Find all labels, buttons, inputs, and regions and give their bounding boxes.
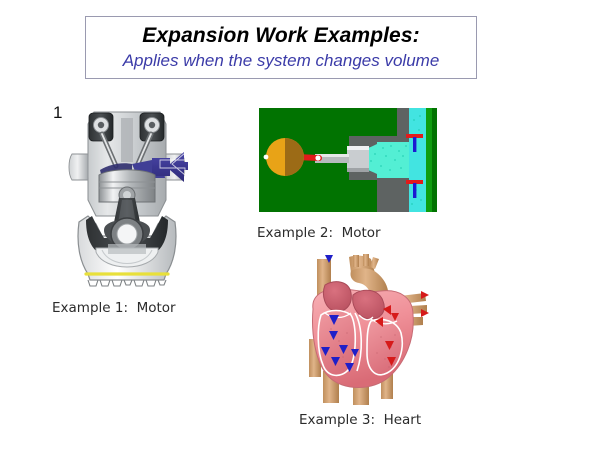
pump-animation-image xyxy=(259,108,437,212)
title-box: Expansion Work Examples: Applies when th… xyxy=(85,16,477,79)
engine-cutaway-image xyxy=(66,104,188,290)
caption-example-2: Example 2: Motor xyxy=(257,225,381,241)
sump-flange xyxy=(88,280,166,286)
page-title: Expansion Work Examples: xyxy=(142,24,419,48)
right-atrium xyxy=(323,282,351,312)
slide-number: 1 xyxy=(53,103,62,123)
caption-example-1: Example 1: Motor xyxy=(52,300,176,316)
heart-anatomy-image xyxy=(295,253,431,405)
caption-example-3: Example 3: Heart xyxy=(299,412,421,428)
page-subtitle: Applies when the system changes volume xyxy=(123,51,440,71)
